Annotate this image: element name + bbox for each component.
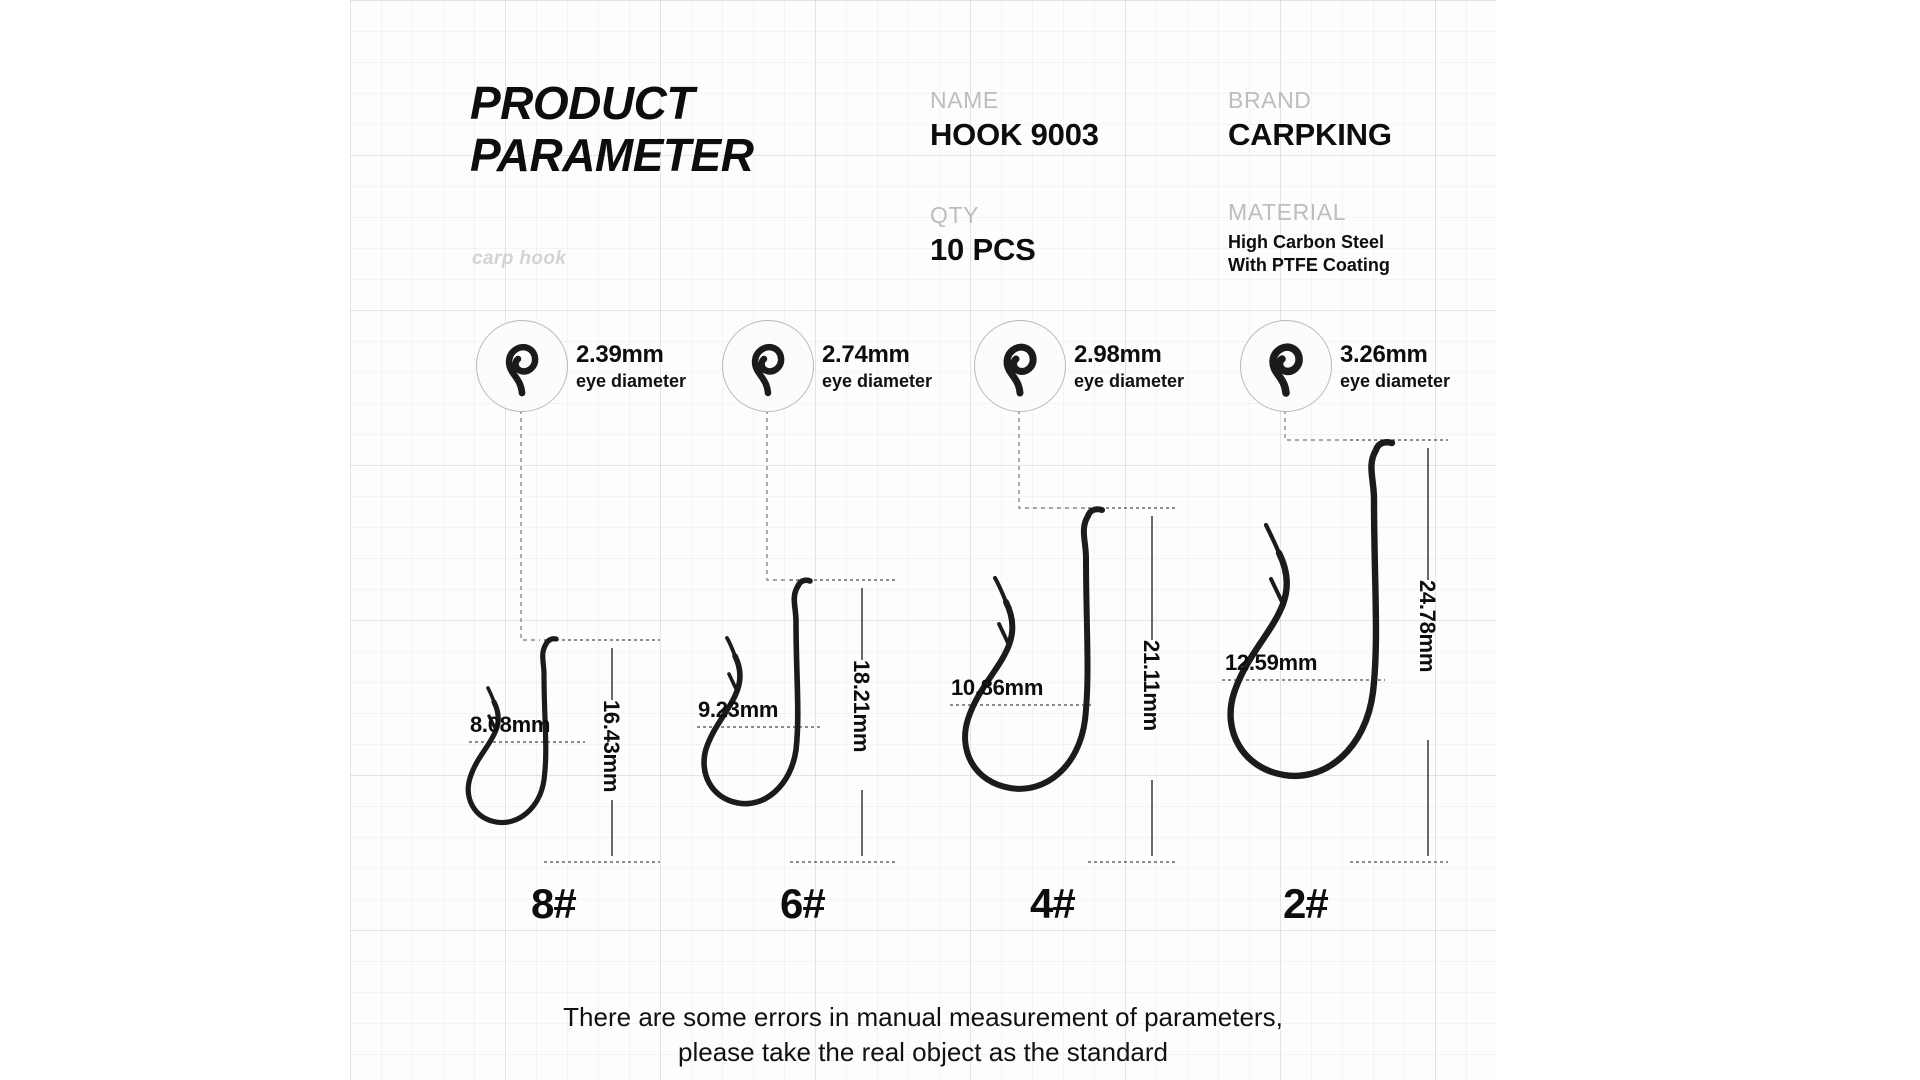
product-parameter-sheet: PRODUCT PARAMETER carp hook NAME HOOK 90…: [0, 0, 1920, 1080]
spec-material-value: High Carbon Steel With PTFE Coating: [1228, 231, 1390, 277]
spec-qty: QTY 10 PCS: [930, 203, 1036, 268]
eye-diameter-value-2: 3.26mm: [1340, 342, 1450, 367]
eye-diameter-value-8: 2.39mm: [576, 342, 686, 367]
eye-diameter-caption-6: eye diameter: [822, 370, 932, 393]
spec-qty-value: 10 PCS: [930, 231, 1036, 268]
eye-magnifier-circle-6: [722, 320, 814, 412]
hook-size-2: 2#: [1283, 880, 1328, 928]
spec-material-label: MATERIAL: [1228, 200, 1390, 225]
hook-length-8: 16.43mm: [598, 700, 624, 792]
eye-callout-text-2: 3.26mm eye diameter: [1340, 342, 1450, 393]
hook-length-4: 21.11mm: [1138, 640, 1164, 731]
hook-size-8: 8#: [531, 880, 576, 928]
spec-qty-label: QTY: [930, 203, 1036, 228]
eye-diameter-caption-4: eye diameter: [1074, 370, 1184, 393]
spec-name-value: HOOK 9003: [930, 116, 1099, 153]
eye-diameter-caption-2: eye diameter: [1340, 370, 1450, 393]
hook-width-2: 12.59mm: [1225, 650, 1317, 676]
hook-length-6: 18.21mm: [848, 660, 874, 752]
spec-material-line2: With PTFE Coating: [1228, 254, 1390, 277]
eye-magnifier-circle-8: [476, 320, 568, 412]
spec-material: MATERIAL High Carbon Steel With PTFE Coa…: [1228, 200, 1390, 277]
eye-callout-text-4: 2.98mm eye diameter: [1074, 342, 1184, 393]
eye-diameter-value-4: 2.98mm: [1074, 342, 1184, 367]
eye-callout-text-8: 2.39mm eye diameter: [576, 342, 686, 393]
spec-brand: BRAND CARPKING: [1228, 88, 1392, 153]
eye-callout-text-6: 2.74mm eye diameter: [822, 342, 932, 393]
hook-width-8: 8.08mm: [470, 712, 550, 738]
eye-magnifier-circle-4: [974, 320, 1066, 412]
footer-line1: There are some errors in manual measurem…: [350, 1000, 1496, 1035]
hook-size-4: 4#: [1030, 880, 1075, 928]
spec-brand-value: CARPKING: [1228, 116, 1392, 153]
footer-line2: please take the real object as the stand…: [350, 1035, 1496, 1070]
spec-brand-label: BRAND: [1228, 88, 1392, 113]
hook-size-6: 6#: [780, 880, 825, 928]
eye-diameter-caption-8: eye diameter: [576, 370, 686, 393]
hook-length-2: 24.78mm: [1414, 580, 1440, 672]
page-title-line2: PARAMETER: [470, 130, 850, 182]
footer-disclaimer: There are some errors in manual measurem…: [350, 1000, 1496, 1070]
spec-material-line1: High Carbon Steel: [1228, 231, 1390, 254]
hook-width-6: 9.23mm: [698, 697, 778, 723]
page-title-line1: PRODUCT: [470, 78, 850, 130]
spec-name-label: NAME: [930, 88, 1099, 113]
page-title: PRODUCT PARAMETER: [470, 78, 850, 181]
eye-diameter-value-6: 2.74mm: [822, 342, 932, 367]
watermark-carp-hook: carp hook: [472, 248, 566, 270]
spec-name: NAME HOOK 9003: [930, 88, 1099, 153]
hook-width-4: 10.86mm: [951, 675, 1043, 701]
eye-magnifier-circle-2: [1240, 320, 1332, 412]
